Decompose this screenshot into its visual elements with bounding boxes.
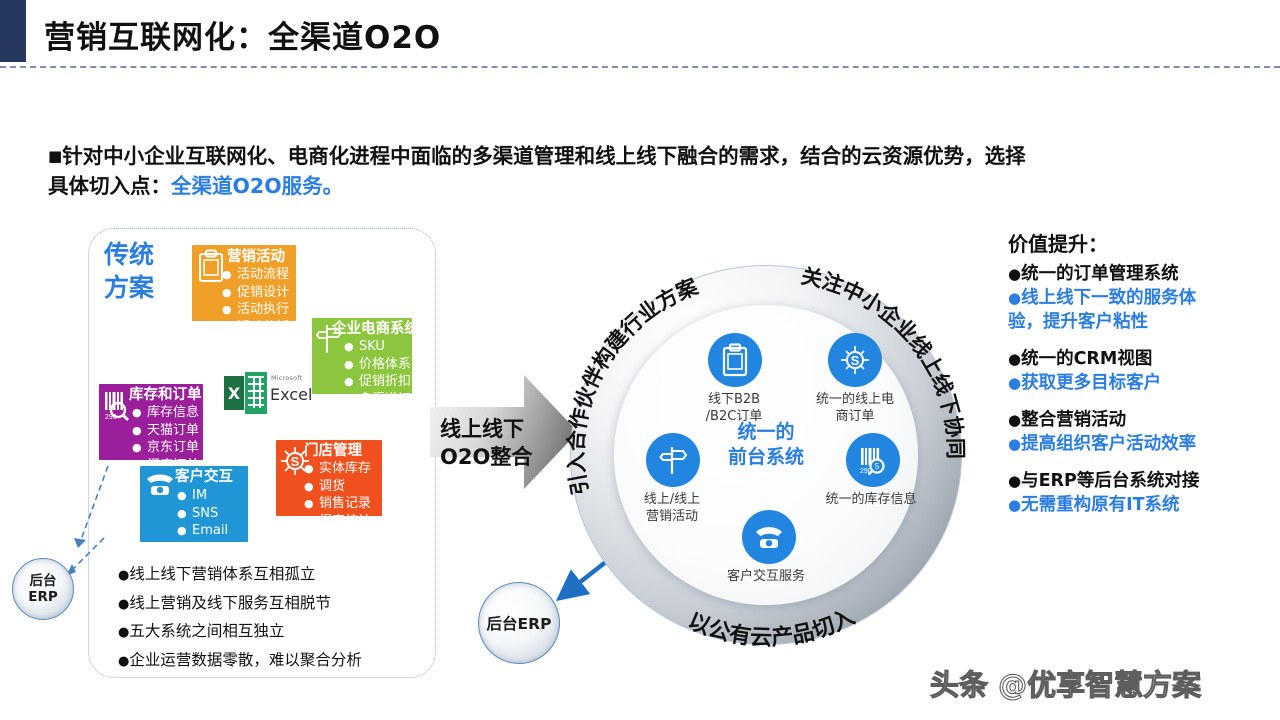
ring-node-online-order[interactable]: S — [828, 333, 882, 387]
ring-node-marketing-label: 线上/线上 营销活动 — [614, 491, 730, 525]
value-item-label: 无需重构原有IT系统 — [1021, 495, 1179, 515]
box-title: 库存和订单 — [129, 387, 202, 404]
ring-node-clipboard[interactable] — [708, 333, 762, 387]
arc-text-bottom: 以公有云产品切入 — [684, 605, 859, 651]
excel-name: Excel — [270, 385, 312, 404]
unified-frontend-ring: 引入合作伙伴构建行业方案 关注中小企业线上线下协同 以公有云产品切入 线下B2B… — [556, 255, 976, 655]
box-item: 促销折扣 — [344, 373, 424, 391]
svg-text:290: 290 — [105, 414, 117, 421]
intro-line-2: 具体切入点： — [48, 174, 171, 198]
value-item: ●提高组织客户活动效率 — [1008, 432, 1258, 456]
excel-brand: Microsoft — [271, 374, 302, 382]
bullet-dot-icon: ● — [1008, 289, 1021, 307]
bullet-dot-icon: ● — [1008, 350, 1021, 368]
list-item: ●企业运营数据零散，难以聚合分析 — [118, 647, 428, 676]
value-item: ●整合营销活动 — [1008, 408, 1258, 432]
barcode-icon: 5290 — [857, 443, 889, 477]
bullet-dot-icon: ● — [1008, 265, 1021, 283]
box-enterprise-ecommerce[interactable]: 企业电商系统 SKU 价格体系 促销折扣 多渠道订单 — [312, 318, 412, 394]
box-item: 库存信息 — [132, 404, 199, 422]
value-item-label: 验，提升客户粘性 — [1008, 312, 1148, 332]
telephone-icon — [752, 522, 786, 552]
value-item-label: 提高组织客户活动效率 — [1021, 434, 1196, 454]
header-divider — [0, 66, 1280, 68]
traditional-solution-label: 传统 方案 — [104, 238, 154, 304]
value-item-label: 整合营销活动 — [1021, 410, 1126, 430]
center-line1: 统一的 — [686, 420, 846, 445]
box-item: 活动执行 — [222, 301, 289, 319]
bullet-dot-icon: ● — [1008, 496, 1021, 514]
label-line1: 客户交互服务 — [704, 568, 828, 585]
excel-x-letter: X — [224, 376, 244, 410]
value-item-label: 统一的CRM视图 — [1021, 349, 1152, 369]
arrow-line2: O2O整合 — [440, 443, 532, 471]
svg-text:S: S — [291, 454, 300, 469]
page-title: 营销互联网化：全渠道O2O — [44, 12, 441, 57]
value-item: ●无需重构原有IT系统 — [1008, 493, 1258, 517]
value-item-label: 与ERP等后台系统对接 — [1021, 471, 1199, 491]
box-item: 价格体系 — [344, 356, 424, 374]
intro-paragraph: ■针对中小企业互联网化、电商化进程中面临的多渠道管理和线上线下融合的需求，结合的… — [48, 141, 1243, 201]
page-header: 营销互联网化：全渠道O2O — [0, 0, 1280, 70]
box-title: 营销活动 — [227, 249, 285, 266]
value-group: ●与ERP等后台系统对接 ●无需重构原有IT系统 — [1008, 469, 1258, 517]
value-item: ●与ERP等后台系统对接 — [1008, 469, 1258, 493]
box-title: 门店管理 — [304, 443, 362, 460]
box-items: 实体库存 调货 销售记录 报表统计 — [304, 460, 371, 530]
value-item: ●统一的CRM视图 — [1008, 347, 1258, 371]
value-item: ●统一的订单管理系统 — [1008, 262, 1258, 286]
bullet-dot-icon: ● — [1008, 411, 1021, 429]
value-item-label: 线上线下一致的服务体 — [1021, 288, 1196, 308]
box-title: 企业电商系统 — [332, 321, 419, 338]
value-item-continuation: 验，提升客户粘性 — [1008, 310, 1258, 334]
label-line1: 统一的库存信息 — [806, 491, 936, 508]
box-item: 活动流程 — [222, 266, 289, 284]
ring-node-customer-service[interactable] — [742, 510, 796, 564]
box-item: 活动分析 — [222, 319, 289, 337]
erp-left-line2: ERP — [28, 589, 58, 605]
label-line1: 线下B2B — [676, 391, 792, 408]
svg-text:5: 5 — [875, 462, 880, 471]
value-group: ●统一的订单管理系统 ●线上线下一致的服务体 验，提升客户粘性 — [1008, 262, 1258, 334]
value-group: ●整合营销活动 ●提高组织客户活动效率 — [1008, 408, 1258, 456]
value-item: ●获取更多目标客户 — [1008, 371, 1258, 395]
label-line1: 线上/线上 — [614, 491, 730, 508]
arrow-line1: 线上线下 — [440, 415, 532, 443]
bullet-dot-icon: ● — [1008, 472, 1021, 490]
backend-erp-left[interactable]: 后台 ERP — [12, 558, 74, 620]
bullet-dot-icon: ● — [118, 654, 129, 669]
signpost-icon — [658, 443, 688, 477]
money-network-icon: S — [839, 343, 871, 377]
box-item: 多渠道订单 — [344, 391, 424, 409]
box-item: 实体库存 — [304, 460, 371, 478]
bullet-dot-icon: ● — [1008, 374, 1021, 392]
arc-bottom-content: 以公有云产品切入 — [684, 605, 859, 651]
box-marketing-activity[interactable]: 营销活动 活动流程 促销设计 活动执行 活动分析 — [192, 245, 296, 321]
svg-text:S: S — [851, 353, 860, 368]
ring-node-inventory-label: 统一的库存信息 — [806, 491, 936, 508]
header-accent-bar — [0, 0, 26, 62]
box-items: SKU 价格体系 促销折扣 多渠道订单 — [344, 338, 424, 408]
value-item-label: 获取更多目标客户 — [1021, 373, 1161, 393]
ring-center-title: 统一的 前台系统 — [686, 420, 846, 470]
box-item: 销售记录 — [304, 495, 371, 513]
box-item: 调货 — [304, 478, 371, 496]
bullet-dot-icon: ● — [1008, 435, 1021, 453]
bullet-square-icon: ■ — [48, 147, 62, 165]
watermark: 头条 @优享智慧方案 — [930, 662, 1201, 704]
center-line2: 前台系统 — [686, 445, 846, 470]
value-item: ●线上线下一致的服务体 — [1008, 286, 1258, 310]
clipboard-icon — [720, 343, 750, 377]
box-item: 促销设计 — [222, 284, 289, 302]
value-improvement-panel: 价值提升： ●统一的订单管理系统 ●线上线下一致的服务体 验，提升客户粘性 ●统… — [1008, 228, 1258, 530]
intro-highlight: 全渠道O2O服务。 — [171, 174, 343, 198]
label-line1: 统一的线上电 — [796, 391, 914, 408]
box-store-management[interactable]: S 门店管理 实体库存 调货 销售记录 报表统计 — [276, 440, 382, 516]
value-group: ●统一的CRM视图 ●获取更多目标客户 — [1008, 347, 1258, 395]
list-item-label: 企业运营数据零散，难以聚合分析 — [129, 651, 362, 669]
integration-arrow-label: 线上线下 O2O整合 — [440, 415, 532, 471]
value-panel-title: 价值提升： — [1008, 228, 1258, 257]
box-item: SKU — [344, 338, 424, 356]
traditional-label-line1: 传统 — [104, 238, 154, 271]
box-items: 活动流程 促销设计 活动执行 活动分析 — [222, 266, 289, 336]
intro-line-1: 针对中小企业互联网化、电商化进程中面临的多渠道管理和线上线下融合的需求，结合的云… — [62, 144, 1026, 168]
excel-logo: X Microsoft Excel — [224, 370, 300, 418]
value-item-label: 统一的订单管理系统 — [1021, 264, 1179, 284]
box-item: 报表统计 — [304, 513, 371, 531]
ring-node-customer-service-label: 客户交互服务 — [704, 568, 828, 585]
traditional-label-line2: 方案 — [104, 271, 154, 304]
svg-text:290: 290 — [860, 468, 872, 475]
erp-left-line1: 后台 — [28, 573, 58, 589]
ring-node-inventory[interactable]: 5290 — [846, 433, 900, 487]
label-line2: 营销活动 — [614, 508, 730, 525]
excel-grid-icon — [245, 372, 267, 414]
